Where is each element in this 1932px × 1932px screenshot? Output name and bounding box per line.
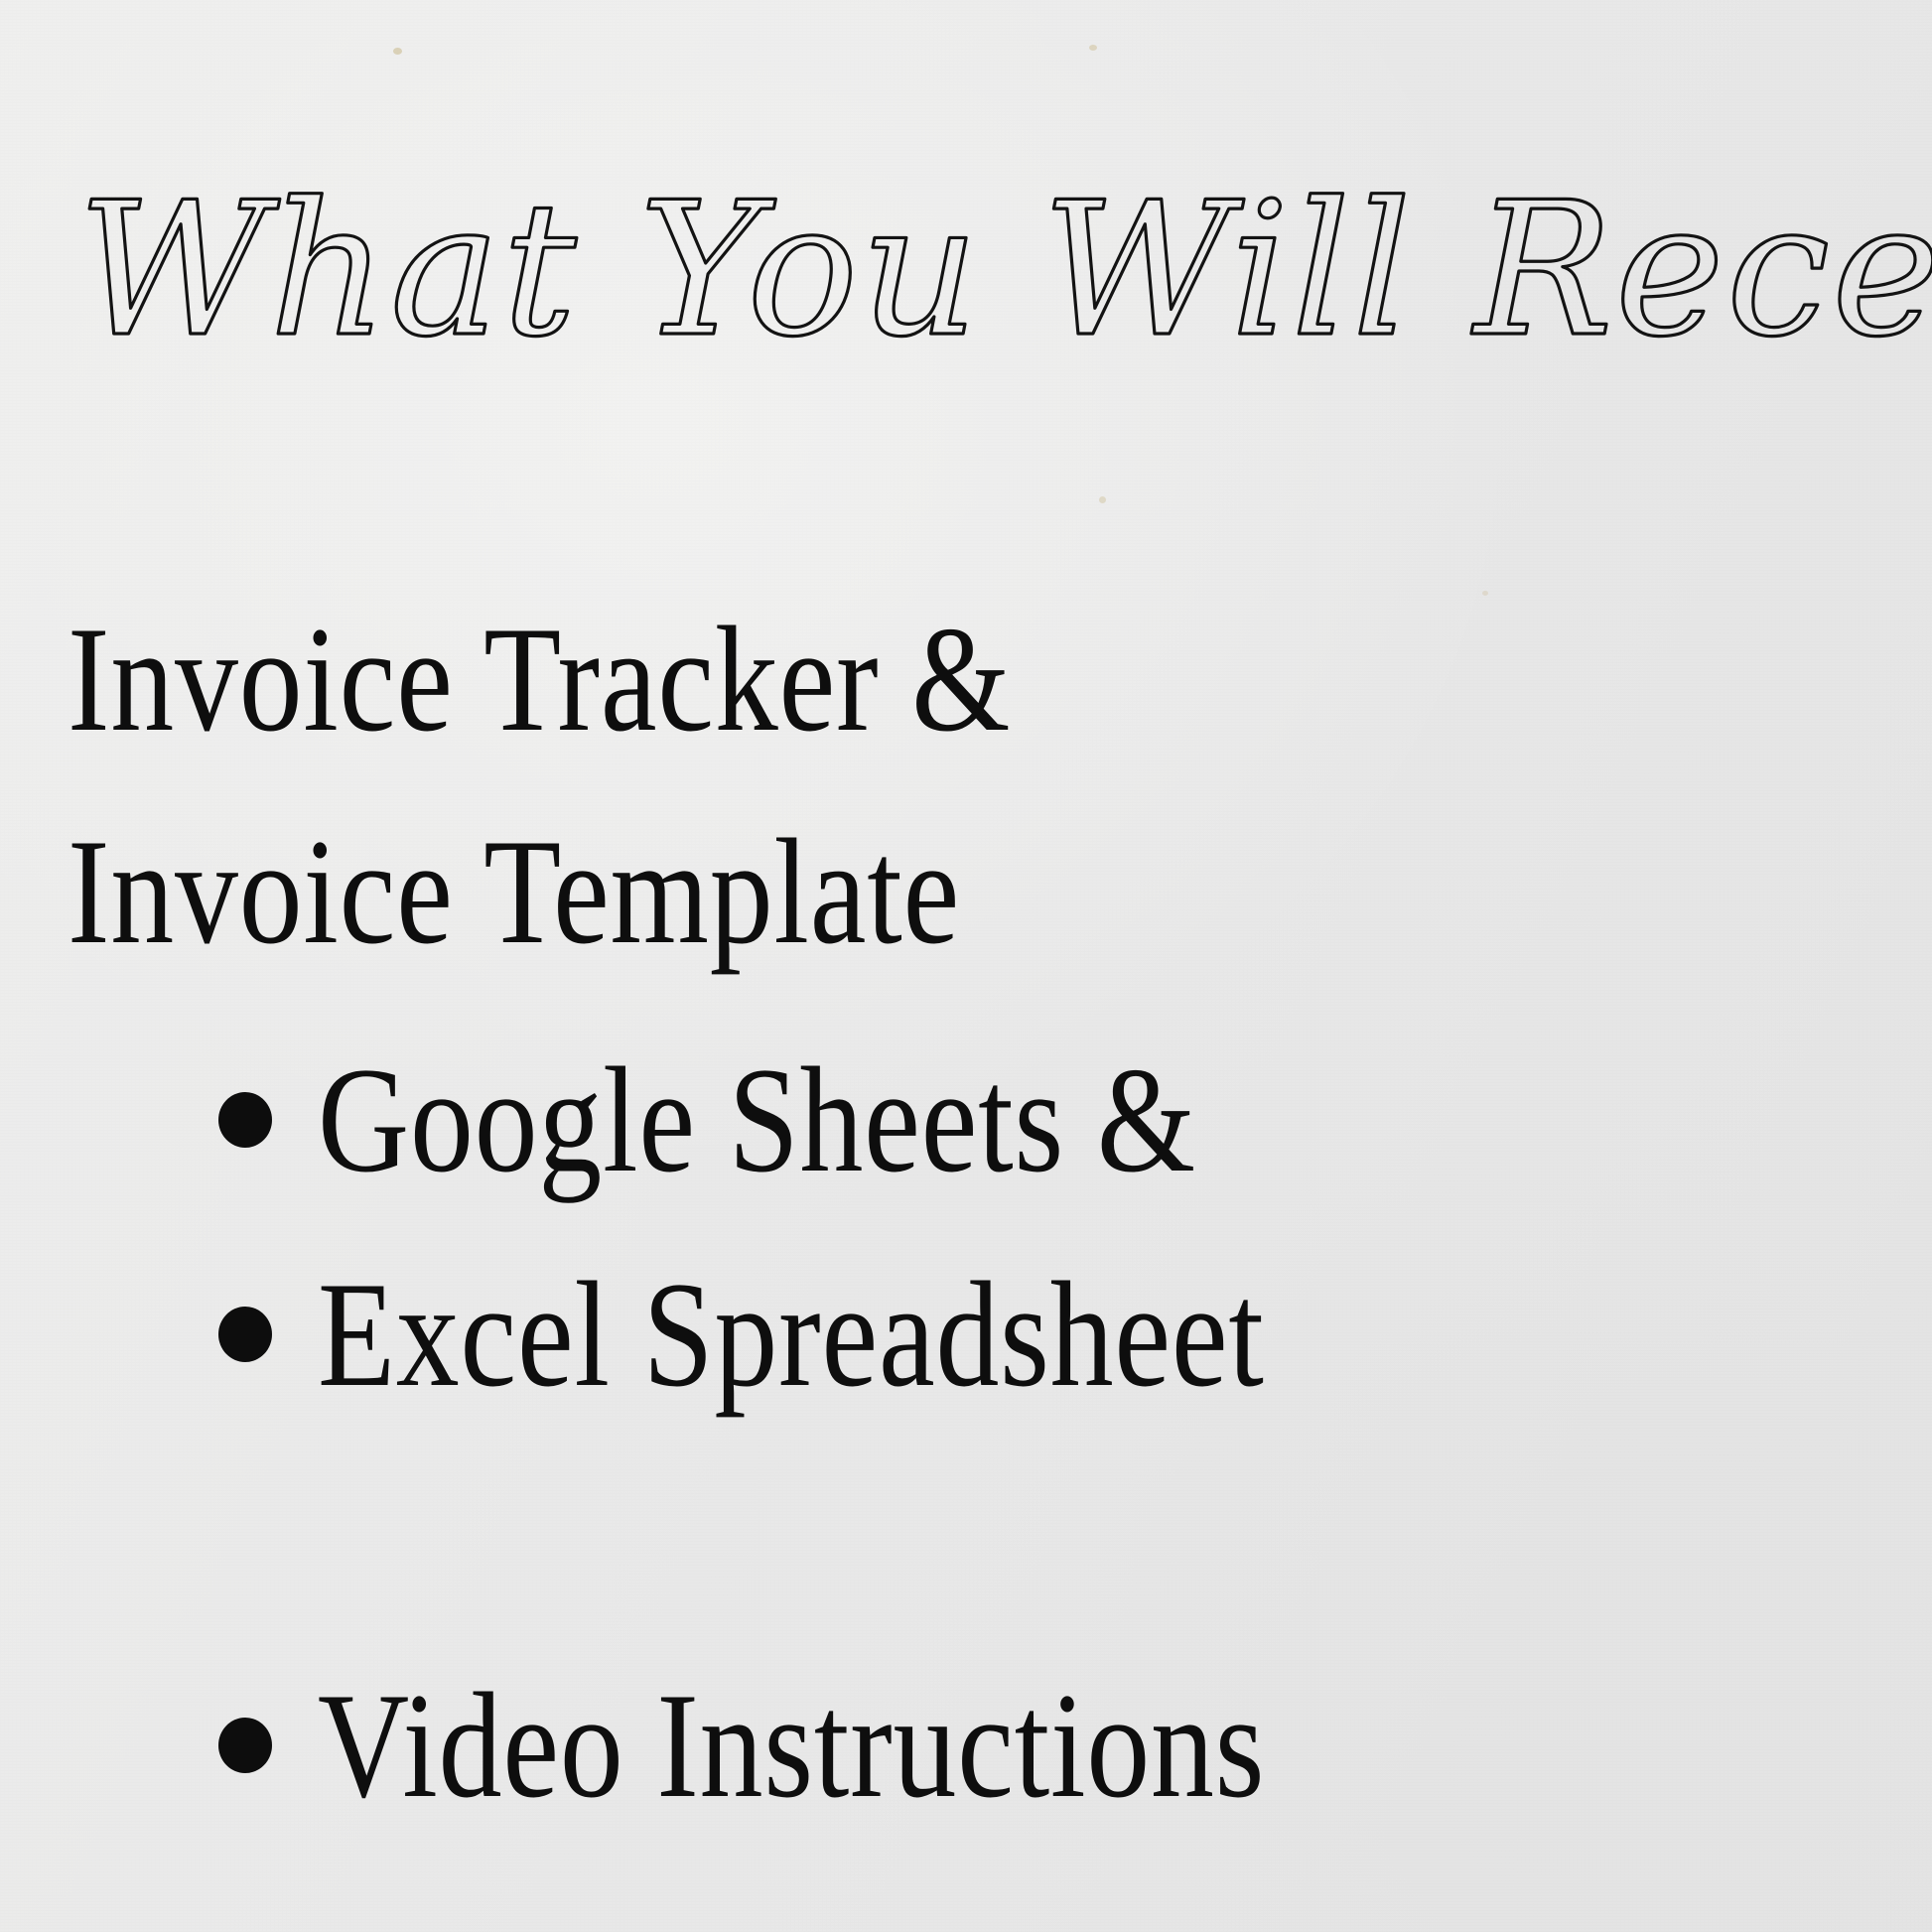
list-item-label: Invoice Template [68,816,960,967]
paper-speck [1089,45,1097,51]
heading-svg: What You Will Receive: [77,139,1864,397]
poster-canvas: What You Will Receive: Invoice Tracker &… [0,0,1932,1932]
list-item-invoice-tracker: Invoice Tracker & [68,604,1190,755]
paper-speck [393,48,402,55]
list-item-google-sheets: Google Sheets & [218,1044,1364,1195]
list-item-video-instructions: Video Instructions [218,1670,1446,1821]
bullet-dot-icon [218,1092,272,1148]
paper-speck [1099,496,1106,503]
bullet-dot-icon [218,1718,272,1773]
list-item-label: Invoice Tracker & [68,604,1011,755]
bullet-dot-icon [218,1307,272,1362]
list-item-label: Video Instructions [318,1670,1265,1821]
heading-script: What You Will Receive: [77,139,1864,397]
paper-speck [1482,591,1488,596]
list-item-label: Google Sheets & [318,1044,1196,1195]
list-item-excel-spreadsheet: Excel Spreadsheet [218,1259,1445,1410]
list-item-invoice-template: Invoice Template [68,816,1130,967]
list-item-label: Excel Spreadsheet [318,1259,1265,1410]
heading-text: What You Will Receive: [77,162,1932,377]
